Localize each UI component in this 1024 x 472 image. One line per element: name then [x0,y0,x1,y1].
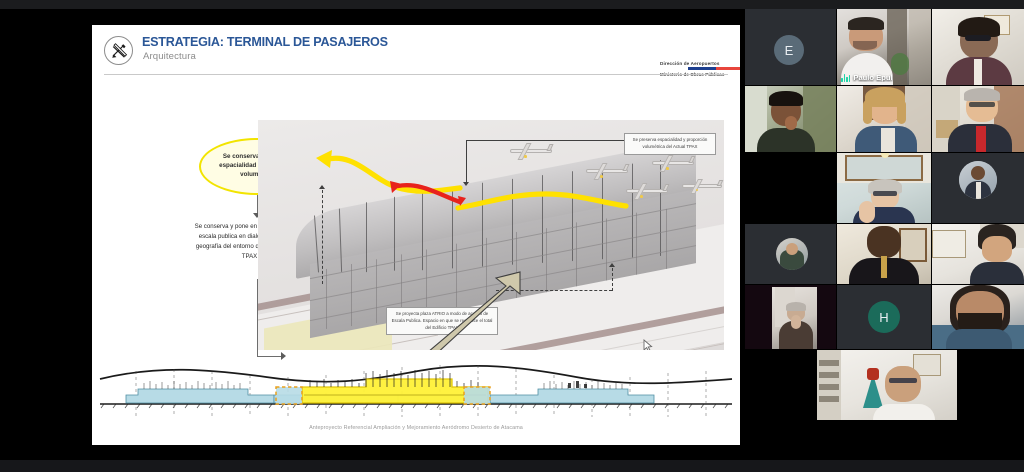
avatar-initial: H [879,310,888,325]
participant-tile-10-thumbnail[interactable] [745,224,836,284]
participant-tile-3[interactable] [932,9,1024,85]
gov-flag-bars [660,67,740,70]
participant-tile-11[interactable] [837,224,931,284]
slide-header: ESTRATEGIA: TERMINAL DE PASAJEROS Arquit… [92,25,740,74]
ruler-pencil-icon [104,36,133,65]
avatar-initial: E [785,43,794,58]
leader-atrio-arrow [609,263,615,267]
render-callout-preserve-text: Se preserva espacialidad y proporción vo… [633,137,708,149]
terminal-3d-render: Se preserva espacialidad y proporción vo… [258,120,724,350]
leader-preserve-arrow [463,182,469,186]
participant-name: Paulo Epul [853,73,892,82]
render-callout-preserve: Se preserva espacialidad y proporción vo… [624,133,716,155]
slide-footer: Anteproyecto Referencial Ampliación y Me… [92,425,740,431]
participant-tile-4[interactable] [745,86,836,152]
shared-screen-stage[interactable]: ESTRATEGIA: TERMINAL DE PASAJEROS Arquit… [0,9,745,460]
participant-tile-13[interactable] [745,285,836,349]
participant-tile-14[interactable]: H [837,285,931,349]
mic-level-icon [841,74,850,82]
leader-volume-line [322,190,323,284]
avatar: H [868,301,900,333]
aircraft-2 [578,162,632,182]
leader-volume-arrow [319,185,325,189]
conflict-arrow-red [386,178,472,210]
avatar: E [774,35,804,65]
elevation-drawing [98,357,734,425]
page-title: ESTRATEGIA: TERMINAL DE PASAJEROS [142,35,388,49]
participant-tile-5[interactable] [837,86,931,152]
screen: ESTRATEGIA: TERMINAL DE PASAJEROS Arquit… [0,0,1024,472]
window-top-bar [0,0,1024,9]
window-bottom-bar [0,460,1024,472]
gov-logo-line1: Dirección de Aeropuertos [660,61,740,66]
aircraft-1 [502,142,556,162]
participant-tile-7-camera-off[interactable] [745,153,836,223]
participant-tile-8[interactable] [837,153,931,223]
participant-tile-1[interactable]: E [745,9,836,85]
header-divider [104,74,728,75]
participant-grid: E Paulo Epul [745,9,1024,460]
aircraft-3 [644,154,698,174]
aircraft-5 [676,178,724,196]
participant-name-badge: Paulo Epul [841,73,893,82]
participant-thumbnail-avatar-2 [776,238,808,270]
entry-axis-arrow [416,268,548,350]
participant-thumbnail-avatar [959,161,997,199]
mouse-cursor [643,339,653,350]
participant-tile-9-thumbnail[interactable] [932,153,1024,223]
strategy-arrow-right [454,182,630,238]
leader-preserve-h [466,140,624,141]
participant-tile-12[interactable] [932,224,1024,284]
participant-tile-15[interactable] [932,285,1024,349]
leader-preserve-v [466,140,467,184]
participant-tile-6[interactable] [932,86,1024,152]
presentation-slide: ESTRATEGIA: TERMINAL DE PASAJEROS Arquit… [92,25,740,445]
participant-tile-2-active-speaker[interactable]: Paulo Epul [837,9,931,85]
page-subtitle: Arquitectura [143,51,196,62]
participant-tile-16[interactable] [817,350,957,420]
